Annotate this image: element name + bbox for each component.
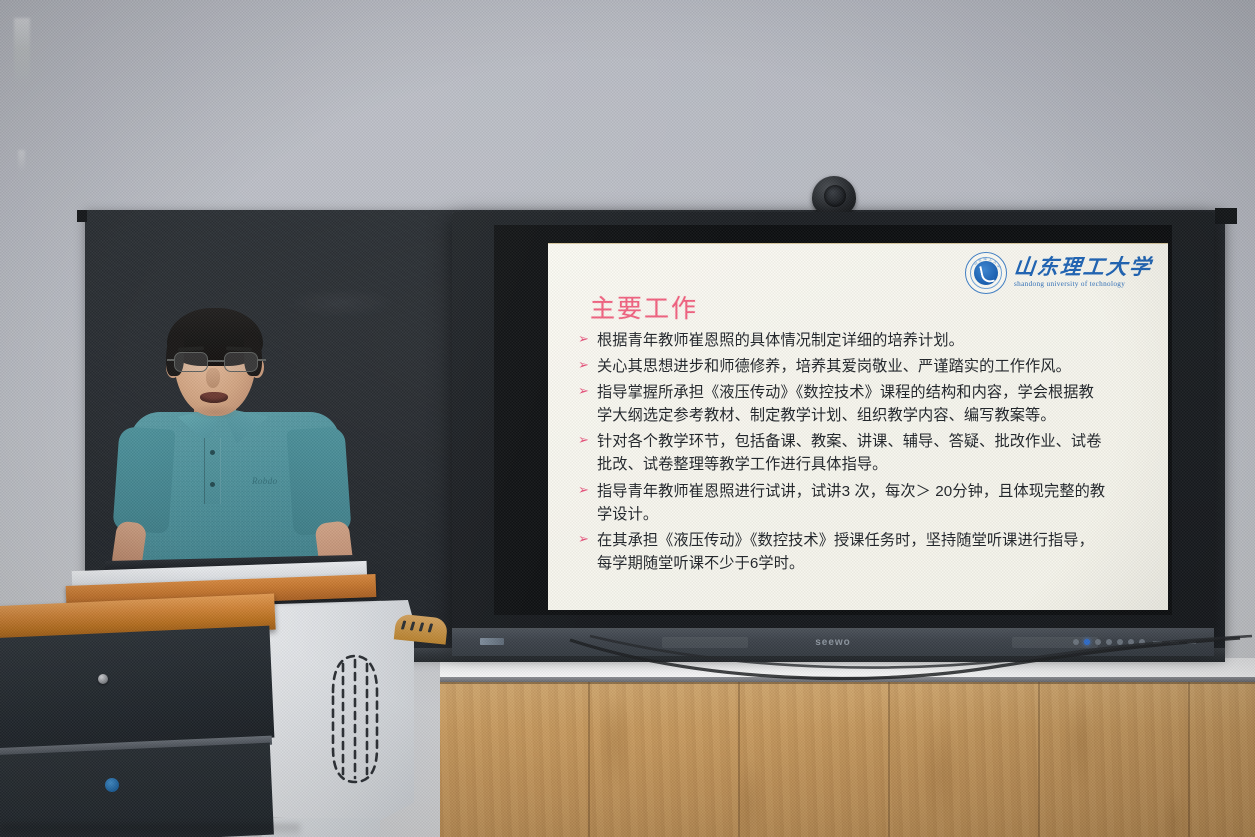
- slide-hairline: [548, 243, 1168, 244]
- slide-bullet-line: 在其承担《液压传动》《数控技术》授课任务时，坚持随堂听课进行指导，: [597, 532, 1094, 549]
- wood-grain-knots: [440, 682, 1255, 837]
- bullet-arrow-icon: ➢: [578, 433, 591, 446]
- bullet-arrow-icon: ➢: [578, 532, 591, 545]
- slide-bullet-line: 学设计。: [597, 503, 1105, 526]
- glasses-temple-right: [258, 359, 266, 361]
- glasses-bridge: [208, 360, 224, 362]
- seal-core-icon: [974, 261, 998, 285]
- left-sleeve: [112, 426, 175, 534]
- university-seal-icon: 山东理工大学: [965, 252, 1007, 294]
- slide-bullet-line: 指导青年教师崔恩照进行试讲，试讲3 次，每次＞ 20分钟，且体现完整的教: [597, 483, 1105, 500]
- nose: [206, 368, 220, 388]
- cables: [440, 636, 1255, 686]
- slide-bullet: ➢在其承担《液压传动》《数控技术》授课任务时，坚持随堂听课进行指导，每学期随堂听…: [578, 529, 1148, 575]
- logo-english-name: shandong university of technology: [1014, 281, 1152, 288]
- slide-bullet-line: 根据青年教师崔恩照的具体情况制定详细的培养计划。: [597, 332, 964, 349]
- vent-slot: [410, 621, 416, 630]
- presentation-slide: 山东理工大学 山东理工大学 shandong university of tec…: [548, 243, 1168, 610]
- lens-right: [224, 352, 258, 372]
- lectern-shadow: [0, 824, 300, 837]
- slide-bullet-line: 每学期随堂听课不少于6学时。: [597, 552, 1094, 575]
- slide-bullet-line: 针对各个教学环节，包括备课、教案、讲课、辅导、答疑、批改作业、试卷: [597, 433, 1102, 450]
- lectern-lower-panel: [0, 743, 274, 837]
- slide-bullet-text: 针对各个教学环节，包括备课、教案、讲课、辅导、答疑、批改作业、试卷批改、试卷整理…: [597, 430, 1102, 476]
- lectern-front-panel: [0, 626, 274, 751]
- slide-bullet: ➢指导青年教师崔恩照进行试讲，试讲3 次，每次＞ 20分钟，且体现完整的教学设计…: [578, 480, 1148, 526]
- slide-bullet-text: 指导青年教师崔恩照进行试讲，试讲3 次，每次＞ 20分钟，且体现完整的教学设计。: [597, 480, 1105, 526]
- vent-slot: [401, 621, 407, 630]
- display-screen[interactable]: 山东理工大学 山东理工大学 shandong university of tec…: [494, 225, 1172, 615]
- bullet-arrow-icon: ➢: [578, 332, 591, 345]
- slide-bullet: ➢根据青年教师崔恩照的具体情况制定详细的培养计划。: [578, 329, 1148, 352]
- wood-wainscot: [440, 682, 1255, 837]
- camera-icon: [812, 176, 856, 216]
- mouth: [200, 392, 228, 403]
- university-logo: 山东理工大学 山东理工大学 shandong university of tec…: [965, 252, 1152, 294]
- wall-smudge: [14, 18, 30, 88]
- slide-bullet-list: ➢根据青年教师崔恩照的具体情况制定详细的培养计划。➢关心其思想进步和师德修养，培…: [578, 329, 1148, 578]
- lectern-lock-icon[interactable]: [98, 674, 108, 684]
- right-sleeve: [286, 426, 351, 536]
- bullet-arrow-icon: ➢: [578, 384, 591, 397]
- slide-bullet: ➢关心其思想进步和师德修养，培养其爱岗敬业、严谨踏实的工作作风。: [578, 355, 1148, 378]
- slide-bullet-line: 指导掌握所承担《液压传动》《数控技术》课程的结构和内容，学会根据教: [597, 384, 1094, 401]
- shirt-button: [210, 482, 215, 487]
- lectern-badge-icon: [105, 778, 119, 792]
- slide-bullet-text: 关心其思想进步和师德修养，培养其爱岗敬业、严谨踏实的工作作风。: [597, 355, 1071, 378]
- slide-bullet-line: 关心其思想进步和师德修养，培养其爱岗敬业、严谨踏实的工作作风。: [597, 358, 1071, 375]
- slide-bullet-text: 指导掌握所承担《液压传动》《数控技术》课程的结构和内容，学会根据教学大纲选定参考…: [597, 381, 1094, 427]
- bullet-arrow-icon: ➢: [578, 358, 591, 371]
- shirt-brand-label: Robdo: [252, 476, 278, 486]
- slide-bullet-text: 在其承担《液压传动》《数控技术》授课任务时，坚持随堂听课进行指导，每学期随堂听课…: [597, 529, 1094, 575]
- logo-chinese-name: 山东理工大学: [1013, 257, 1153, 278]
- slide-bullet-text: 根据青年教师崔恩照的具体情况制定详细的培养计划。: [597, 329, 964, 352]
- classroom-photo: 山东理工大学 山东理工大学 shandong university of tec…: [0, 0, 1255, 837]
- slide-title: 主要工作: [590, 289, 698, 325]
- camera-lens-icon: [824, 185, 846, 207]
- lens-left: [174, 352, 208, 372]
- presenter: Robdo: [122, 300, 352, 570]
- board-edge-left: [77, 210, 87, 222]
- chin-shading: [188, 404, 242, 420]
- wall-smudge-secondary: [18, 150, 25, 172]
- glasses-temple-left: [167, 359, 175, 361]
- speaker-grille-icon: [325, 652, 385, 786]
- logo-wordmark: 山东理工大学 shandong university of technology: [1014, 257, 1152, 288]
- slide-bullet-line: 学大纲选定参考教材、制定教学计划、组织教学内容、编写教案等。: [597, 404, 1094, 427]
- board-edge-right: [1215, 208, 1237, 224]
- slide-bullet: ➢针对各个教学环节，包括备课、教案、讲课、辅导、答疑、批改作业、试卷批改、试卷整…: [578, 430, 1148, 476]
- interactive-display[interactable]: 山东理工大学 山东理工大学 shandong university of tec…: [452, 212, 1214, 644]
- lectern: [0, 556, 450, 837]
- vent-slot: [419, 622, 425, 631]
- shirt-button: [210, 450, 215, 455]
- bullet-arrow-icon: ➢: [578, 483, 591, 496]
- slide-bullet-line: 批改、试卷整理等教学工作进行具体指导。: [597, 453, 1102, 476]
- shirt-placket: [204, 438, 221, 504]
- slide-bullet: ➢指导掌握所承担《液压传动》《数控技术》课程的结构和内容，学会根据教学大纲选定参…: [578, 381, 1148, 427]
